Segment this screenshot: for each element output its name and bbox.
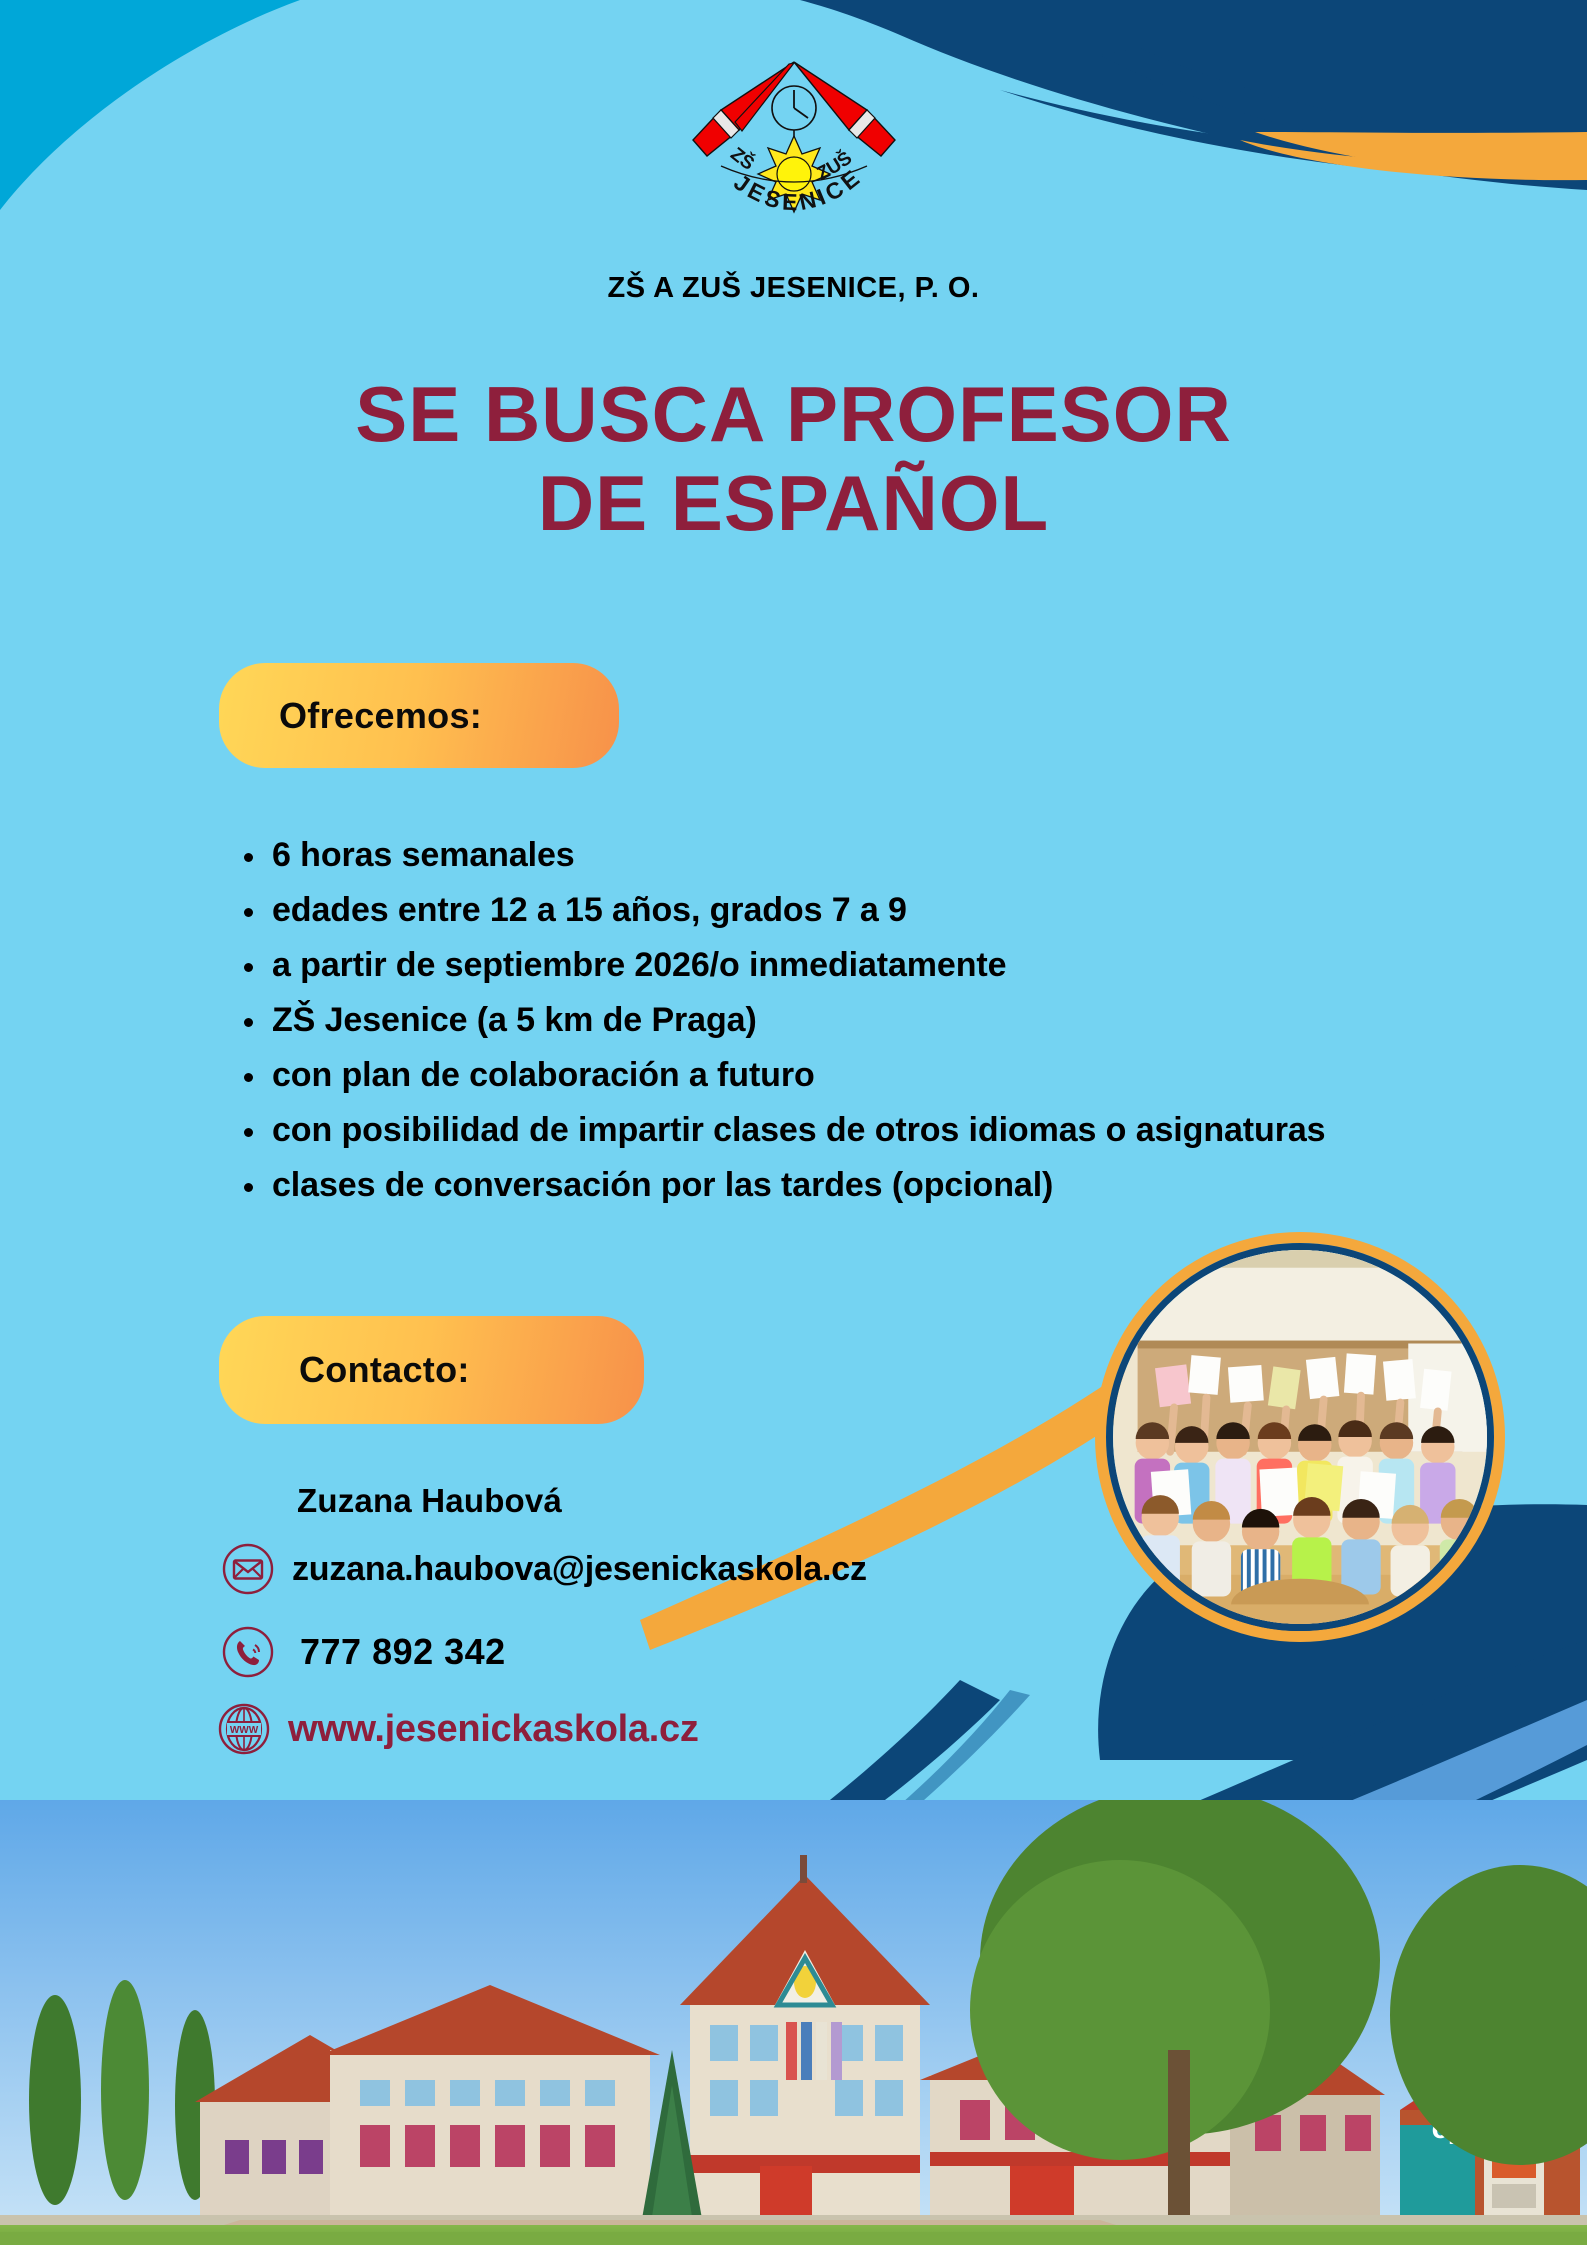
students-photo — [1106, 1243, 1494, 1631]
svg-text:WWW: WWW — [230, 1725, 259, 1736]
contact-phone-text: 777 892 342 — [292, 1631, 506, 1673]
school-building-illustration: ZŠ Jesenice cykloklub — [0, 1800, 1587, 2245]
list-item: con posibilidad de impartir clases de ot… — [240, 1113, 1530, 1147]
offer-list: 6 horas semanales edades entre 12 a 15 a… — [240, 838, 1530, 1223]
phone-icon — [222, 1626, 274, 1678]
students-photo-illustration — [1113, 1250, 1487, 1624]
logo-clock-icon — [772, 86, 816, 140]
contact-website-text: www.jesenickaskola.cz — [288, 1708, 699, 1751]
page-title: SE BUSCA PROFESOR DE ESPAÑOL — [0, 370, 1587, 548]
list-item: a partir de septiembre 2026/o inmediatam… — [240, 948, 1530, 982]
envelope-icon — [222, 1543, 274, 1595]
list-item: 6 horas semanales — [240, 838, 1530, 872]
offer-badge: Ofrecemos: — [219, 663, 619, 768]
title-line-2: DE ESPAÑOL — [0, 459, 1587, 548]
poster-canvas: ZŠ ZUŠ JESENICE ZŠ A ZUŠ JESENICE, P. O.… — [0, 0, 1587, 2245]
list-item: edades entre 12 a 15 años, grados 7 a 9 — [240, 893, 1530, 927]
school-logo: ZŠ ZUŠ JESENICE — [669, 48, 919, 233]
list-item: clases de conversación por las tardes (o… — [240, 1168, 1530, 1202]
globe-www-icon: WWW — [218, 1703, 270, 1755]
title-line-1: SE BUSCA PROFESOR — [0, 370, 1587, 459]
school-logo-svg: ZŠ ZUŠ JESENICE — [669, 48, 919, 233]
contact-email-text: zuzana.haubova@jesenickaskola.cz — [292, 1550, 867, 1589]
contact-email-row[interactable]: zuzana.haubova@jesenickaskola.cz — [222, 1543, 867, 1595]
contact-badge-label: Contacto: — [299, 1349, 470, 1391]
list-item: ZŠ Jesenice (a 5 km de Praga) — [240, 1003, 1530, 1037]
contact-phone-row[interactable]: 777 892 342 — [222, 1626, 506, 1678]
contact-badge: Contacto: — [219, 1316, 644, 1424]
contact-website-row[interactable]: WWW www.jesenickaskola.cz — [218, 1703, 699, 1755]
offer-badge-label: Ofrecemos: — [279, 695, 482, 737]
school-building-photo: ZŠ Jesenice cykloklub — [0, 1800, 1587, 2245]
contact-person-name: Zuzana Haubová — [297, 1482, 562, 1520]
list-item: con plan de colaboración a futuro — [240, 1058, 1530, 1092]
organization-name: ZŠ A ZUŠ JESENICE, P. O. — [0, 272, 1587, 305]
